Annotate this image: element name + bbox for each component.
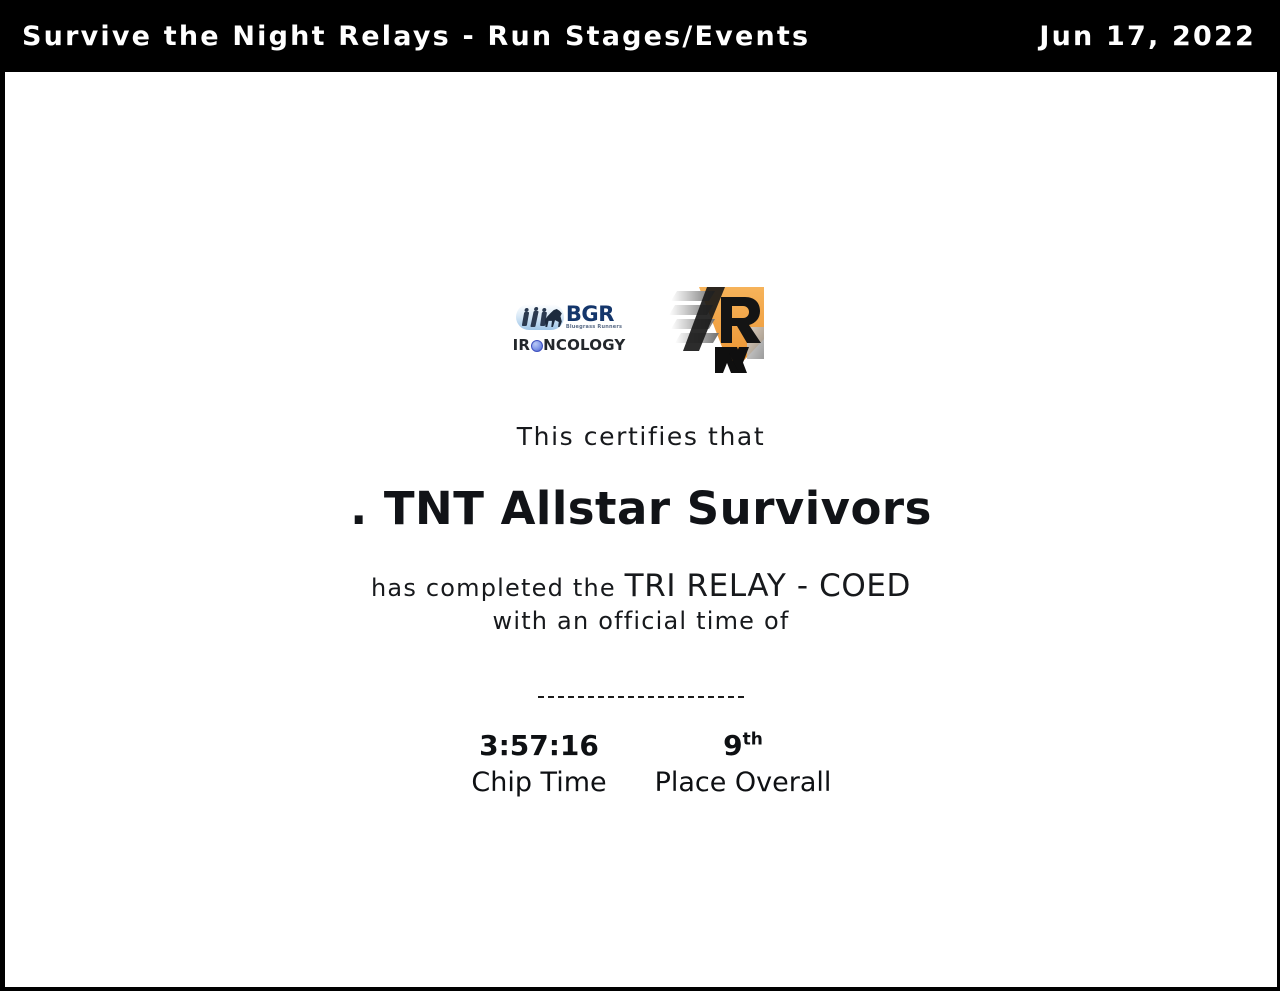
bgr-wordmark-block: BGR Bluegrass Runners <box>566 304 622 330</box>
bgr-runners-icon <box>516 304 564 330</box>
logo-row: BGR Bluegrass Runners IRNCOLOGY <box>5 272 1277 382</box>
place-value: 9 <box>723 729 742 762</box>
official-time-text: with an official time of <box>5 606 1277 636</box>
stats-row: 3:57:16 Chip Time 9th Place Overall <box>5 727 1277 801</box>
bgr-ironcology-logo: BGR Bluegrass Runners IRNCOLOGY <box>513 301 625 353</box>
event-name: TRI RELAY - COED <box>625 568 911 604</box>
page-header: Survive the Night Relays - Run Stages/Ev… <box>0 0 1280 72</box>
place-label: Place Overall <box>641 765 845 801</box>
stat-place-overall: 9th Place Overall <box>641 727 845 801</box>
event-date: Jun 17, 2022 <box>1039 23 1256 50</box>
ironcology-orb-icon <box>531 340 543 352</box>
completed-line: has completed the TRI RELAY - COED <box>5 567 1277 606</box>
chip-time-value: 3:57:16 <box>479 729 599 762</box>
certificate-sheet: BGR Bluegrass Runners IRNCOLOGY <box>0 72 1280 991</box>
ironcology-prefix: IR <box>513 337 531 353</box>
rw-logo-icon <box>669 281 769 373</box>
bgr-tagline: Bluegrass Runners <box>566 324 622 330</box>
chip-time-value-block: 3:57:16 <box>437 727 641 765</box>
place-ordinal: th <box>743 730 763 750</box>
ironcology-suffix: NCOLOGY <box>543 337 625 353</box>
runsignup-rw-logo <box>669 281 769 373</box>
bgr-logo-top: BGR Bluegrass Runners <box>516 301 622 333</box>
certifies-text: This certifies that <box>5 422 1277 452</box>
completed-prefix: has completed the <box>371 574 625 602</box>
stat-chip-time: 3:57:16 Chip Time <box>437 727 641 801</box>
bgr-wordmark: BGR <box>566 304 622 324</box>
certificate-page: Survive the Night Relays - Run Stages/Ev… <box>0 0 1280 991</box>
place-value-block: 9th <box>641 727 845 765</box>
divider <box>538 696 744 698</box>
chip-time-label: Chip Time <box>437 765 641 801</box>
ironcology-wordmark: IRNCOLOGY <box>513 337 626 353</box>
event-title: Survive the Night Relays - Run Stages/Ev… <box>22 23 810 50</box>
participant-name: . TNT Allstar Survivors <box>5 482 1277 536</box>
certificate-content: BGR Bluegrass Runners IRNCOLOGY <box>5 72 1277 987</box>
